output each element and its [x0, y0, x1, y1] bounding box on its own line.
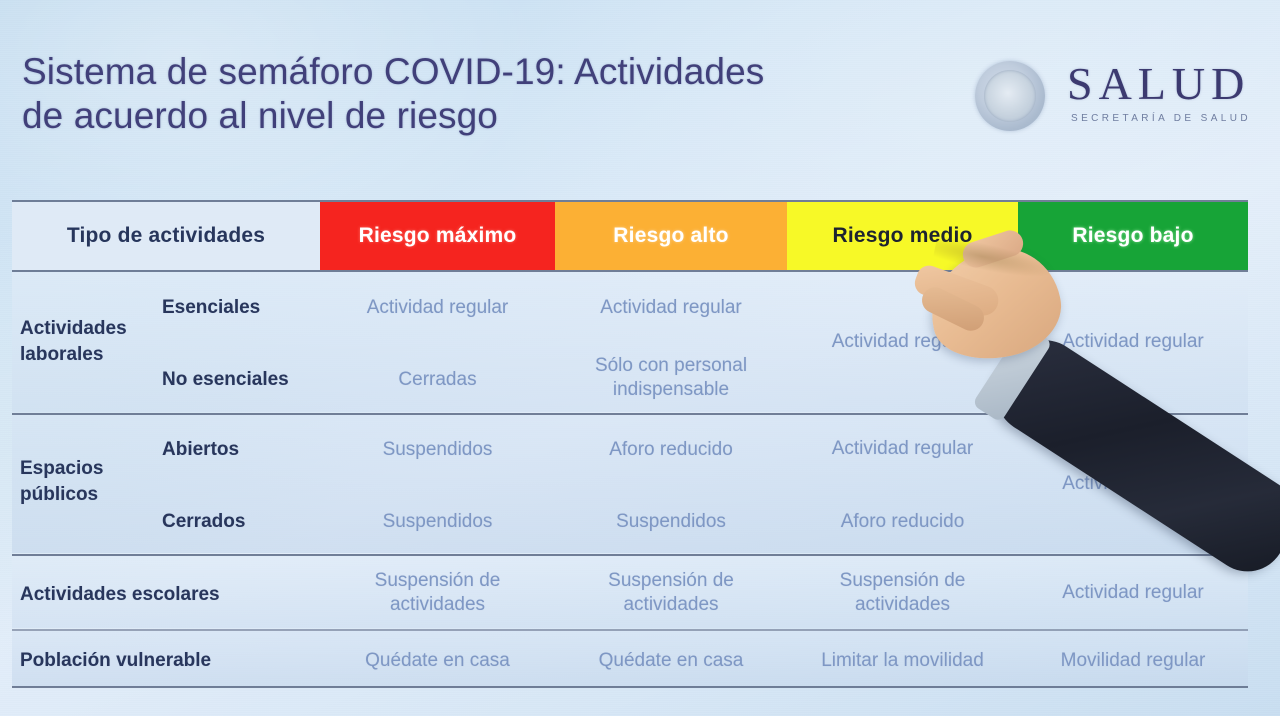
header-label: Riesgo medio: [832, 224, 972, 248]
salud-logo: SALUD SECRETARÍA DE SALUD: [975, 57, 1265, 142]
cell-laborales-noesenciales-maximo: Cerradas: [320, 368, 555, 392]
title-line-2: de acuerdo al nivel de riesgo: [22, 94, 952, 138]
cell-vulnerable-bajo: Movilidad regular: [1018, 649, 1248, 673]
slide-header: Sistema de semáforo COVID-19: Actividade…: [0, 0, 1280, 190]
subrow-label-cerrados: Cerrados: [162, 510, 322, 534]
cell-espacios-bajo-merged: Actividad regular: [1018, 472, 1248, 496]
header-cell-riesgo-maximo: Riesgo máximo: [320, 202, 555, 270]
cell-escolares-maximo: Suspensión de actividades: [320, 569, 555, 617]
cell-espacios-abiertos-alto: Aforo reducido: [555, 438, 787, 462]
header-cell-riesgo-alto: Riesgo alto: [555, 202, 787, 270]
cell-espacios-abiertos-maximo: Suspendidos: [320, 438, 555, 462]
row-group-label-actividades-laborales: Actividades laborales: [20, 316, 320, 368]
subrow-label-no-esenciales: No esenciales: [162, 368, 322, 392]
mexican-national-seal-icon: [975, 61, 1045, 131]
cell-vulnerable-alto: Quédate en casa: [555, 649, 787, 673]
cell-escolares-medio: Suspensión de actividades: [787, 569, 1018, 617]
logo-subtitle: SECRETARÍA DE SALUD: [1071, 113, 1251, 124]
header-label: Riesgo alto: [613, 224, 728, 248]
cell-espacios-cerrados-medio: Aforo reducido: [787, 510, 1018, 534]
row-group-label-poblacion-vulnerable: Población vulnerable: [20, 649, 320, 673]
cell-vulnerable-medio: Limitar la movilidad: [787, 649, 1018, 673]
header-cell-riesgo-bajo: Riesgo bajo: [1018, 202, 1248, 270]
header-label: Tipo de actividades: [67, 224, 265, 248]
logo-wordmark: SALUD: [1067, 57, 1250, 110]
cell-laborales-medio-merged: Actividad regular: [787, 330, 1018, 354]
cell-vulnerable-maximo: Quédate en casa: [320, 649, 555, 673]
cell-escolares-bajo: Actividad regular: [1018, 581, 1248, 605]
header-label: Riesgo bajo: [1072, 224, 1193, 248]
title-line-1: Sistema de semáforo COVID-19: Actividade…: [22, 51, 764, 92]
cell-espacios-abiertos-medio: Actividad regular: [787, 437, 1018, 461]
header-cell-tipo-de-actividades: Tipo de actividades: [12, 202, 320, 270]
header-cell-riesgo-medio: Riesgo medio: [787, 202, 1018, 270]
cell-laborales-esenciales-alto: Actividad regular: [555, 296, 787, 320]
cell-laborales-bajo-merged: Actividad regular: [1018, 330, 1248, 354]
subrow-label-esenciales: Esenciales: [162, 296, 322, 320]
row-group-label-actividades-escolares: Actividades escolares: [20, 583, 320, 607]
page-title: Sistema de semáforo COVID-19: Actividade…: [22, 50, 952, 138]
subrow-label-abiertos: Abiertos: [162, 438, 322, 462]
table-header-row: Tipo de actividades Riesgo máximo Riesgo…: [12, 202, 1248, 270]
cell-espacios-cerrados-alto: Suspendidos: [555, 510, 787, 534]
cell-escolares-alto: Suspensión de actividades: [555, 569, 787, 617]
cell-espacios-cerrados-maximo: Suspendidos: [320, 510, 555, 534]
cell-laborales-noesenciales-alto: Sólo con personal indispensable: [555, 354, 787, 402]
table-bottom-rule: [12, 686, 1248, 688]
header-label: Riesgo máximo: [359, 224, 517, 248]
cell-laborales-esenciales-maximo: Actividad regular: [320, 296, 555, 320]
row-group-label-espacios-publicos: Espacios públicos: [20, 456, 320, 508]
